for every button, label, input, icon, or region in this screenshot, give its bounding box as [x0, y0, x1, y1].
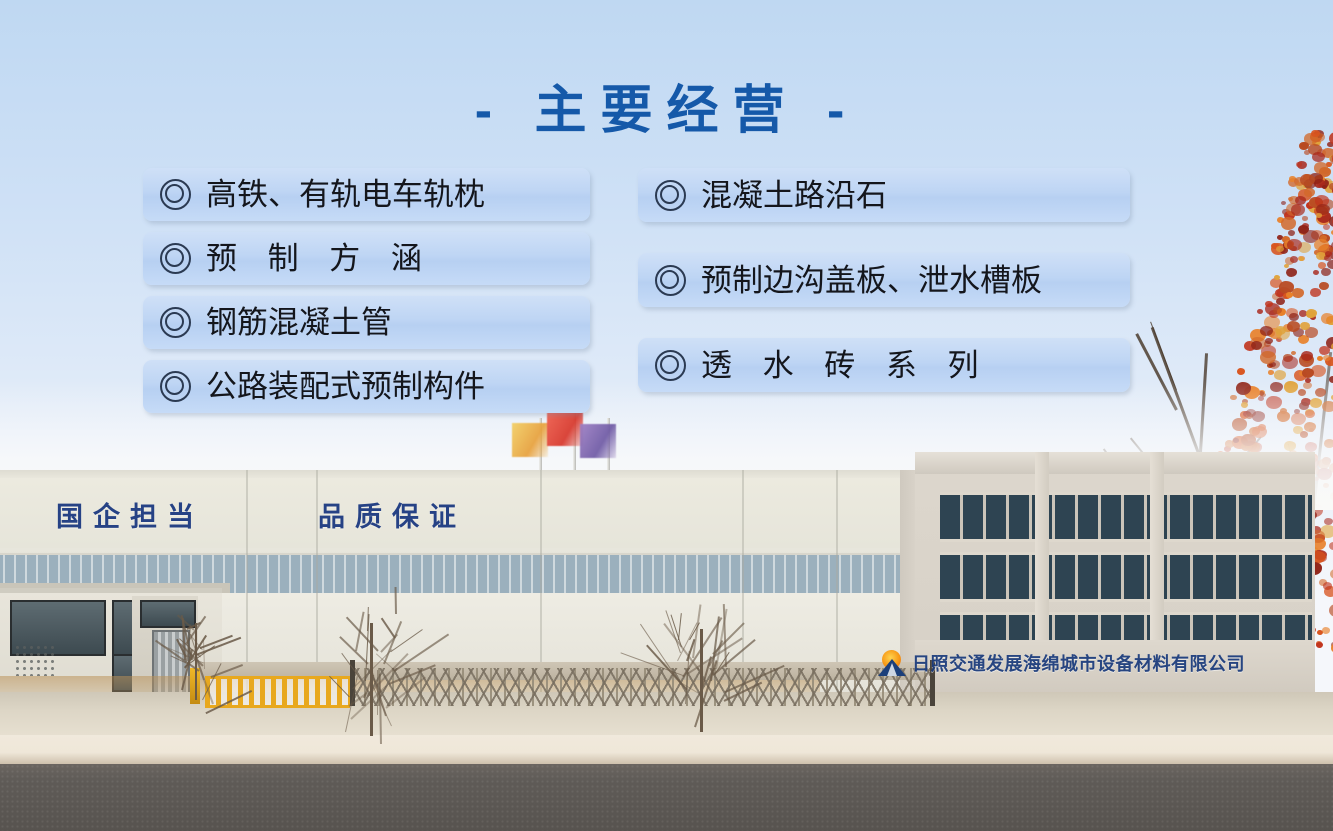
curb-strip: [0, 735, 1333, 765]
product-item-6[interactable]: 预制边沟盖板、泄水槽板: [638, 253, 1130, 307]
product-label: 透 水 砖 系 列: [701, 350, 989, 381]
double-circle-bullet-icon: [655, 180, 686, 211]
tree-leaf: [1324, 518, 1333, 525]
tree-leaf: [1296, 162, 1302, 167]
product-item-1[interactable]: 高铁、有轨电车轨枕: [143, 168, 590, 221]
product-column-right: 混凝土路沿石 预制边沟盖板、泄水槽板 透 水 砖 系 列: [638, 168, 1130, 423]
tree-leaf: [1323, 582, 1332, 590]
product-item-5[interactable]: 混凝土路沿石: [638, 168, 1130, 222]
product-item-7[interactable]: 透 水 砖 系 列: [638, 338, 1130, 392]
product-label: 高铁、有轨电车轨枕: [206, 179, 485, 210]
double-circle-bullet-icon: [160, 243, 191, 274]
sun-arch-logo-icon: [878, 650, 906, 676]
poster-canvas: 国企担当 品质保证: [0, 0, 1333, 831]
title-block: - 主要经营 -: [0, 68, 1333, 143]
road-texture: [0, 764, 1333, 831]
product-column-left: 高铁、有轨电车轨枕 预 制 方 涵 钢筋混凝土管 公路装配式预制构件: [143, 168, 590, 424]
double-circle-bullet-icon: [655, 265, 686, 296]
tree-leaf: [1329, 542, 1333, 550]
company-name-text: 日照交通发展海绵城市设备材料有限公司: [912, 650, 1245, 676]
double-circle-bullet-icon: [160, 307, 191, 338]
product-item-2[interactable]: 预 制 方 涵: [143, 232, 590, 285]
wall-slogan-1: 国企担当: [56, 495, 204, 534]
product-label: 钢筋混凝土管: [206, 307, 392, 338]
tree-leaf: [1322, 627, 1330, 634]
product-label: 公路装配式预制构件: [206, 371, 485, 402]
office-window-row: [940, 492, 1312, 542]
wall-vent-grid: [14, 644, 58, 676]
product-item-3[interactable]: 钢筋混凝土管: [143, 296, 590, 349]
logo-inner-arch-shape: [887, 663, 897, 676]
tree-leaf: [1312, 152, 1325, 162]
double-circle-bullet-icon: [655, 350, 686, 381]
purple-flag: [580, 424, 616, 458]
product-label: 混凝土路沿石: [701, 180, 887, 211]
wall-slogan-2: 品质保证: [318, 495, 466, 534]
yellow-flag: [512, 423, 548, 457]
product-label: 预 制 方 涵: [206, 243, 433, 274]
company-sign: 日照交通发展海绵城市设备材料有限公司: [878, 650, 1245, 676]
tree-leaf: [1299, 142, 1309, 150]
tree-leaf: [1329, 604, 1333, 617]
office-window-row: [940, 552, 1312, 602]
double-circle-bullet-icon: [160, 371, 191, 402]
office-roof-band: [915, 452, 1315, 474]
product-item-4[interactable]: 公路装配式预制构件: [143, 360, 590, 413]
product-label: 预制边沟盖板、泄水槽板: [701, 265, 1042, 296]
double-circle-bullet-icon: [160, 179, 191, 210]
page-title: - 主要经营 -: [475, 68, 859, 143]
retractable-gate: [350, 668, 935, 706]
product-list-area: 高铁、有轨电车轨枕 预 制 方 涵 钢筋混凝土管 公路装配式预制构件 混凝土路沿…: [0, 168, 1333, 398]
tree-leaf: [1316, 642, 1323, 648]
tree-leaf: [1304, 150, 1310, 155]
